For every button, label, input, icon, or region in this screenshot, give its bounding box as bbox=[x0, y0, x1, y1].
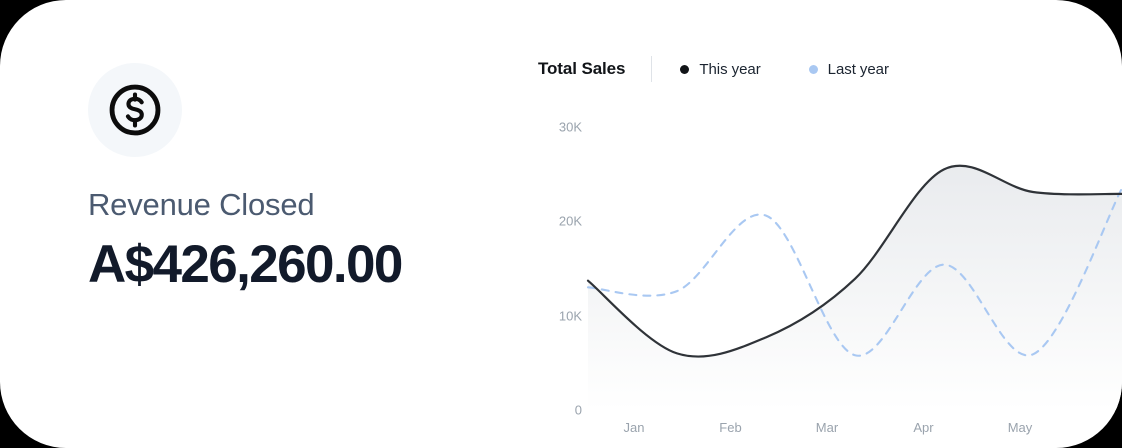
kpi-block: Revenue Closed A$426,260.00 bbox=[88, 63, 508, 294]
x-axis: JanFebMarAprMayJun bbox=[584, 420, 1122, 444]
x-tick-label: May bbox=[1008, 420, 1033, 435]
kpi-label: Revenue Closed bbox=[88, 187, 508, 223]
dollar-circle-icon bbox=[88, 63, 182, 157]
chart-plot: 30K20K10K0 JanFebMarAprMayJun bbox=[538, 108, 1122, 448]
legend-dot-icon-this-year bbox=[680, 65, 689, 74]
legend-dot-icon-last-year bbox=[809, 65, 818, 74]
legend-item-this-year[interactable]: This year bbox=[680, 61, 760, 78]
y-tick-label: 20K bbox=[559, 214, 582, 229]
kpi-value: A$426,260.00 bbox=[88, 235, 508, 294]
x-tick-label: Jun bbox=[1106, 420, 1122, 435]
legend-label-last-year: Last year bbox=[828, 61, 889, 78]
legend-label-this-year: This year bbox=[699, 61, 760, 78]
chart-title: Total Sales bbox=[538, 59, 625, 79]
x-tick-label: Jan bbox=[624, 420, 645, 435]
x-tick-label: Apr bbox=[913, 420, 933, 435]
y-axis: 30K20K10K0 bbox=[538, 108, 582, 410]
y-tick-label: 10K bbox=[559, 308, 582, 323]
header-divider bbox=[651, 56, 652, 82]
plot-area bbox=[584, 108, 1122, 410]
x-tick-label: Feb bbox=[719, 420, 741, 435]
revenue-card: Revenue Closed A$426,260.00 Total Sales … bbox=[0, 0, 1122, 448]
chart-header: Total Sales This year Last year bbox=[538, 52, 1122, 86]
total-sales-chart-panel: Total Sales This year Last year 30K20K10… bbox=[538, 52, 1122, 448]
chart-legend: This year Last year bbox=[680, 61, 889, 78]
y-tick-label: 30K bbox=[559, 119, 582, 134]
y-tick-label: 0 bbox=[575, 403, 582, 418]
legend-item-last-year[interactable]: Last year bbox=[809, 61, 889, 78]
x-tick-label: Mar bbox=[816, 420, 838, 435]
area-fill-this-year bbox=[588, 166, 1122, 410]
